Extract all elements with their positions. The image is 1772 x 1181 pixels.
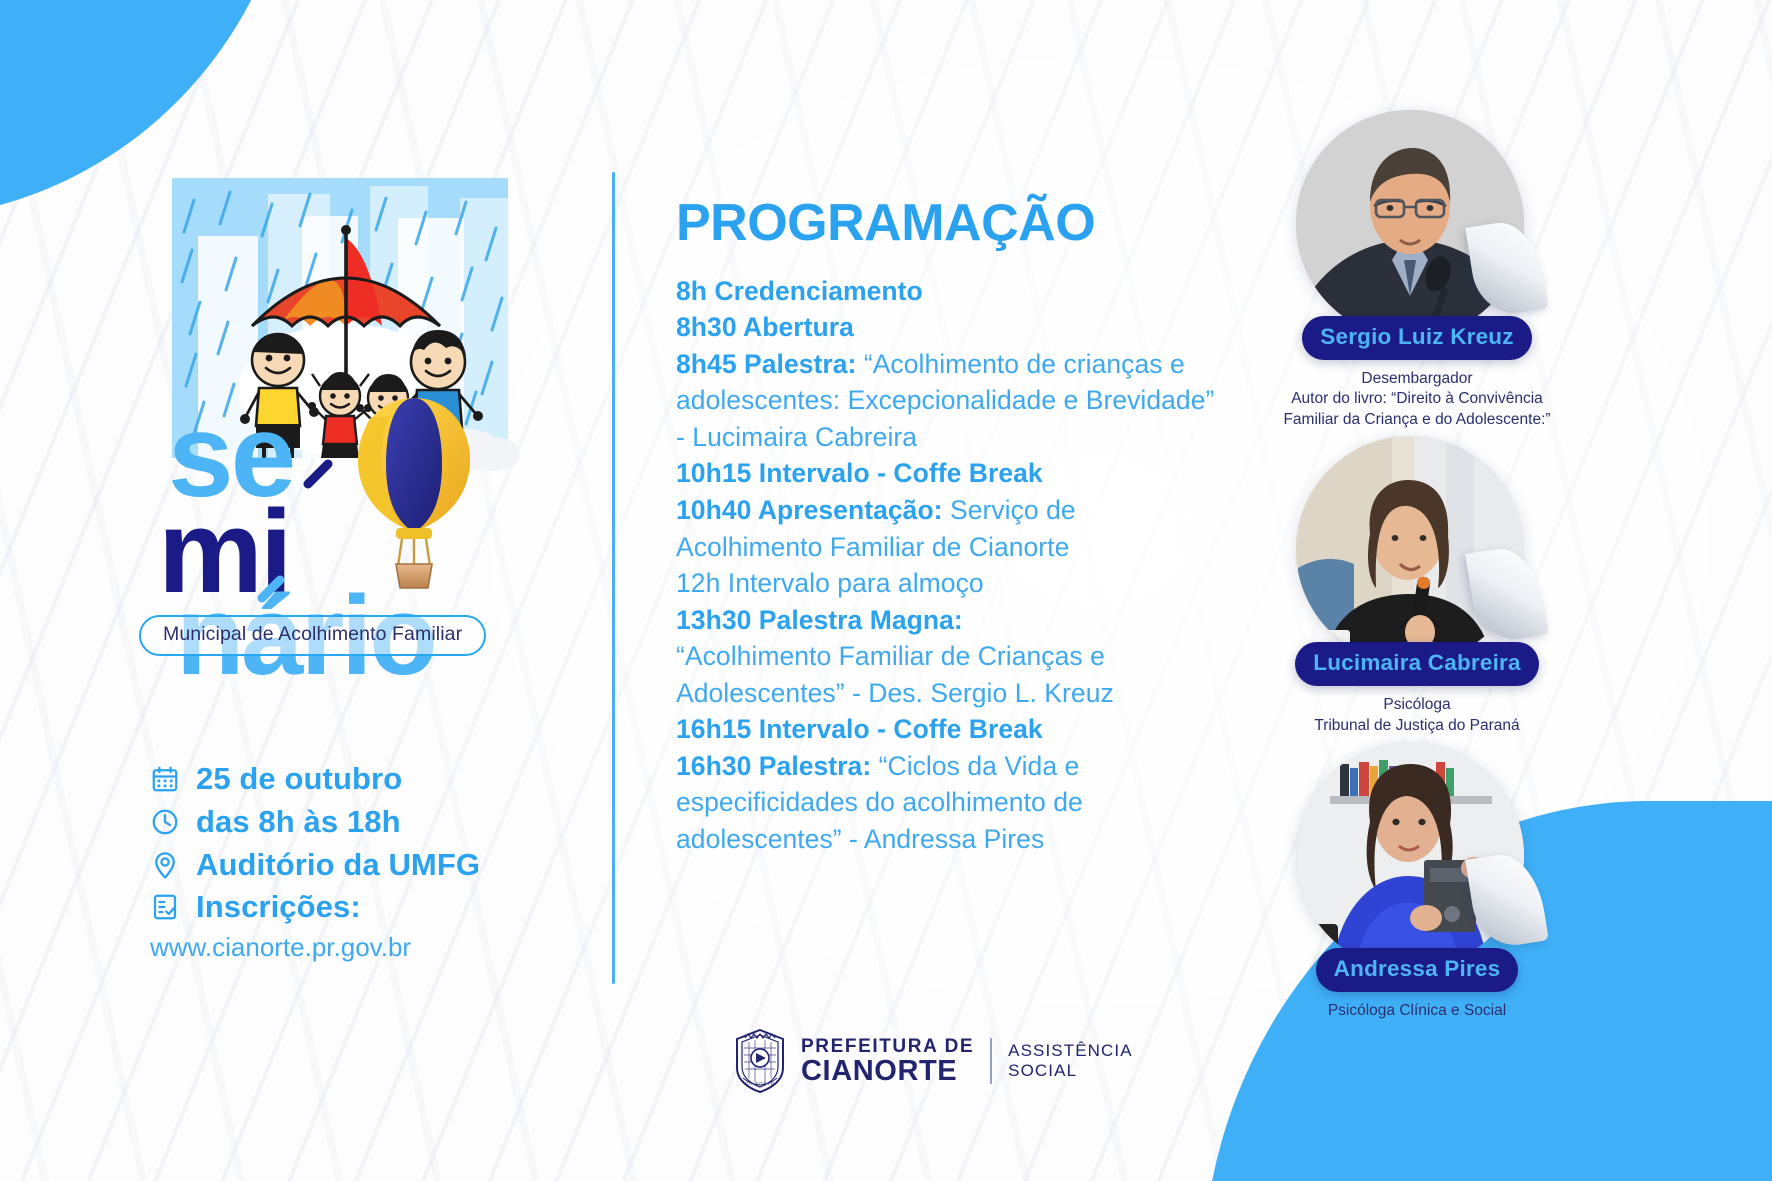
detail-row-date: 25 de outubro [150, 760, 610, 798]
agenda-item-description: “Acolhimento Familiar de Crianças e Adol… [676, 641, 1114, 708]
agenda-item: 16h15 Intervalo - Coffe Break [676, 711, 1216, 748]
speaker-bio-line: Tribunal de Justiça do Paraná [1272, 716, 1562, 736]
agenda-item-time: 16h30 Palestra: [676, 751, 871, 781]
detail-row-registration: Inscrições: [150, 888, 610, 926]
agenda-item-time: 8h Credenciamento [676, 276, 923, 306]
clipboard-check-icon [150, 892, 180, 922]
agenda-item: 16h30 Palestra: “Ciclos da Vida e especi… [676, 748, 1216, 858]
speaker-bio-line: Autor do livro: “Direito à Convivência F… [1272, 389, 1562, 430]
clock-icon [150, 807, 180, 837]
event-details-list: 25 de outubro das 8h às 18h Auditório da… [150, 760, 610, 963]
department-block: ASSISTÊNCIA SOCIAL [1008, 1041, 1133, 1081]
agenda-item: 8h Credenciamento [676, 273, 1216, 310]
calendar-icon [150, 764, 180, 794]
agenda-item-time: 10h15 Intervalo - Coffe Break [676, 458, 1043, 488]
prefeitura-block: PREFEITURA DE CIANORTE [801, 1037, 974, 1086]
speaker-photo-wrapper [1296, 110, 1538, 338]
detail-registration-label: Inscrições: [196, 888, 361, 926]
agenda-item: 12h Intervalo para almoço [676, 565, 1216, 602]
speaker-photo-wrapper [1296, 436, 1538, 664]
agenda-item-time: 8h30 Abertura [676, 312, 854, 342]
agenda-item: 10h15 Intervalo - Coffe Break [676, 455, 1216, 492]
agenda-item: “Acolhimento Familiar de Crianças e Adol… [676, 638, 1216, 711]
agenda-item-time: 13h30 Palestra Magna: [676, 605, 963, 635]
detail-venue-text: Auditório da UMFG [196, 846, 480, 884]
speaker-photo-wrapper [1296, 742, 1538, 970]
event-subtitle-pill: Municipal de Acolhimento Familiar [139, 615, 486, 656]
prefeitura-line2: CIANORTE [801, 1057, 974, 1086]
left-column: se mi nário [0, 0, 612, 1181]
speaker-card: Lucimaira CabreiraPsicólogaTribunal de J… [1272, 436, 1562, 736]
speaker-bio-line: Desembargador [1272, 369, 1562, 389]
map-pin-icon [150, 850, 180, 880]
agenda-item-time: 8h45 Palestra: [676, 349, 856, 379]
vertical-divider [612, 172, 615, 984]
program-title: PROGRAMAÇÃO [676, 196, 1216, 251]
detail-time-text: das 8h às 18h [196, 803, 401, 841]
speakers-column: Sergio Luiz KreuzDesembargadorAutor do l… [1272, 110, 1562, 1028]
speaker-bio: PsicólogaTribunal de Justiça do Paraná [1272, 695, 1562, 736]
speaker-name-badge: Sergio Luiz Kreuz [1302, 316, 1531, 360]
detail-row-venue: Auditório da UMFG [150, 846, 610, 884]
department-line1: ASSISTÊNCIA [1008, 1041, 1133, 1061]
speaker-bio: Psicóloga Clínica e Social [1272, 1001, 1562, 1021]
footer-text-group: PREFEITURA DE CIANORTE ASSISTÊNCIA SOCIA… [801, 1037, 1133, 1086]
detail-date-text: 25 de outubro [196, 760, 402, 798]
speaker-card: Andressa PiresPsicóloga Clínica e Social [1272, 742, 1562, 1021]
agenda-item-description: 12h Intervalo para almoço [676, 568, 984, 598]
footer-branding: CIANORTE PREFEITURA DE CIANORTE ASSISTÊN… [733, 1028, 1133, 1094]
program-agenda-list: 8h Credenciamento8h30 Abertura8h45 Pales… [676, 273, 1216, 858]
speaker-bio-line: Psicóloga [1272, 695, 1562, 715]
speaker-name-badge: Andressa Pires [1316, 948, 1519, 992]
speaker-bio-line: Psicóloga Clínica e Social [1272, 1001, 1562, 1021]
department-line2: SOCIAL [1008, 1061, 1133, 1081]
agenda-item: 8h30 Abertura [676, 309, 1216, 346]
prefeitura-line1: PREFEITURA DE [801, 1037, 974, 1056]
speaker-name-badge: Lucimaira Cabreira [1295, 642, 1538, 686]
detail-row-time: das 8h às 18h [150, 803, 610, 841]
coat-of-arms-icon: CIANORTE [733, 1028, 787, 1094]
speaker-bio: DesembargadorAutor do livro: “Direito à … [1272, 369, 1562, 430]
svg-text:CIANORTE: CIANORTE [745, 1081, 775, 1086]
agenda-item-time: 16h15 Intervalo - Coffe Break [676, 714, 1043, 744]
speaker-card: Sergio Luiz KreuzDesembargadorAutor do l… [1272, 110, 1562, 430]
agenda-item: 13h30 Palestra Magna: [676, 602, 1216, 639]
footer-divider [990, 1038, 992, 1084]
agenda-item: 8h45 Palestra: “Acolhimento de crianças … [676, 346, 1216, 456]
agenda-item-time: 10h40 Apresentação: [676, 495, 943, 525]
agenda-item: 10h40 Apresentação: Serviço de Acolhimen… [676, 492, 1216, 565]
program-column: PROGRAMAÇÃO 8h Credenciamento8h30 Abertu… [676, 196, 1216, 858]
registration-website-url[interactable]: www.cianorte.pr.gov.br [150, 932, 610, 963]
event-poster: se mi nário [0, 0, 1772, 1181]
